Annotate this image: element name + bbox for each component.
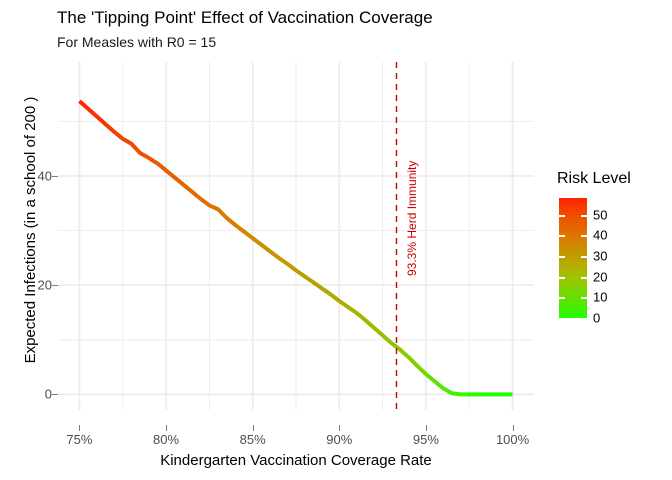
legend-tick-mark [559,215,565,217]
legend-tick-mark [581,297,587,299]
page-title: The 'Tipping Point' Effect of Vaccinatio… [57,8,433,28]
legend-label: 20 [593,269,607,284]
legend-tick-mark [559,318,565,320]
x-tick-label: 100% [496,432,529,447]
x-tick-mark [253,425,254,431]
herd-immunity-label: 93.3% Herd Immunity [405,161,419,276]
legend-tick-mark [559,235,565,237]
gridlines [58,62,534,410]
legend-tick-mark [581,318,587,320]
y-axis-tick-labels: 02040 [8,0,52,480]
x-tick-label: 85% [240,432,266,447]
y-tick-label: 40 [14,168,52,183]
legend-label: 40 [593,228,607,243]
legend-title: Risk Level [557,170,631,188]
x-tick-mark [339,425,340,431]
x-tick-label: 75% [66,432,92,447]
x-tick-label: 95% [413,432,439,447]
x-axis-title: Kindergarten Vaccination Coverage Rate [75,452,517,469]
legend-tick-mark [581,277,587,279]
y-tick-label: 20 [14,278,52,293]
y-tick-label: 0 [14,387,52,402]
legend-tick-mark [581,235,587,237]
x-tick-label: 80% [153,432,179,447]
legend-tick-mark [581,256,587,258]
legend-tick-mark [581,215,587,217]
x-tick-mark [79,425,80,431]
legend-tick-mark [559,256,565,258]
legend-label: 0 [593,311,600,326]
plot-panel: 93.3% Herd Immunity [58,62,534,410]
legend-tick-mark [559,297,565,299]
legend-tick-mark [559,277,565,279]
legend-risk-level: Risk Level 01020304050 [553,170,671,330]
legend-label: 10 [593,290,607,305]
x-tick-label: 90% [326,432,352,447]
x-tick-mark [426,425,427,431]
chart-root: The 'Tipping Point' Effect of Vaccinatio… [0,0,672,480]
x-tick-mark [513,425,514,431]
legend-label: 30 [593,248,607,263]
x-axis-tick-labels: 75%80%85%90%95%100% [0,425,672,445]
x-tick-mark [166,425,167,431]
chart-subtitle: For Measles with R0 = 15 [57,34,216,50]
legend-label: 50 [593,207,607,222]
